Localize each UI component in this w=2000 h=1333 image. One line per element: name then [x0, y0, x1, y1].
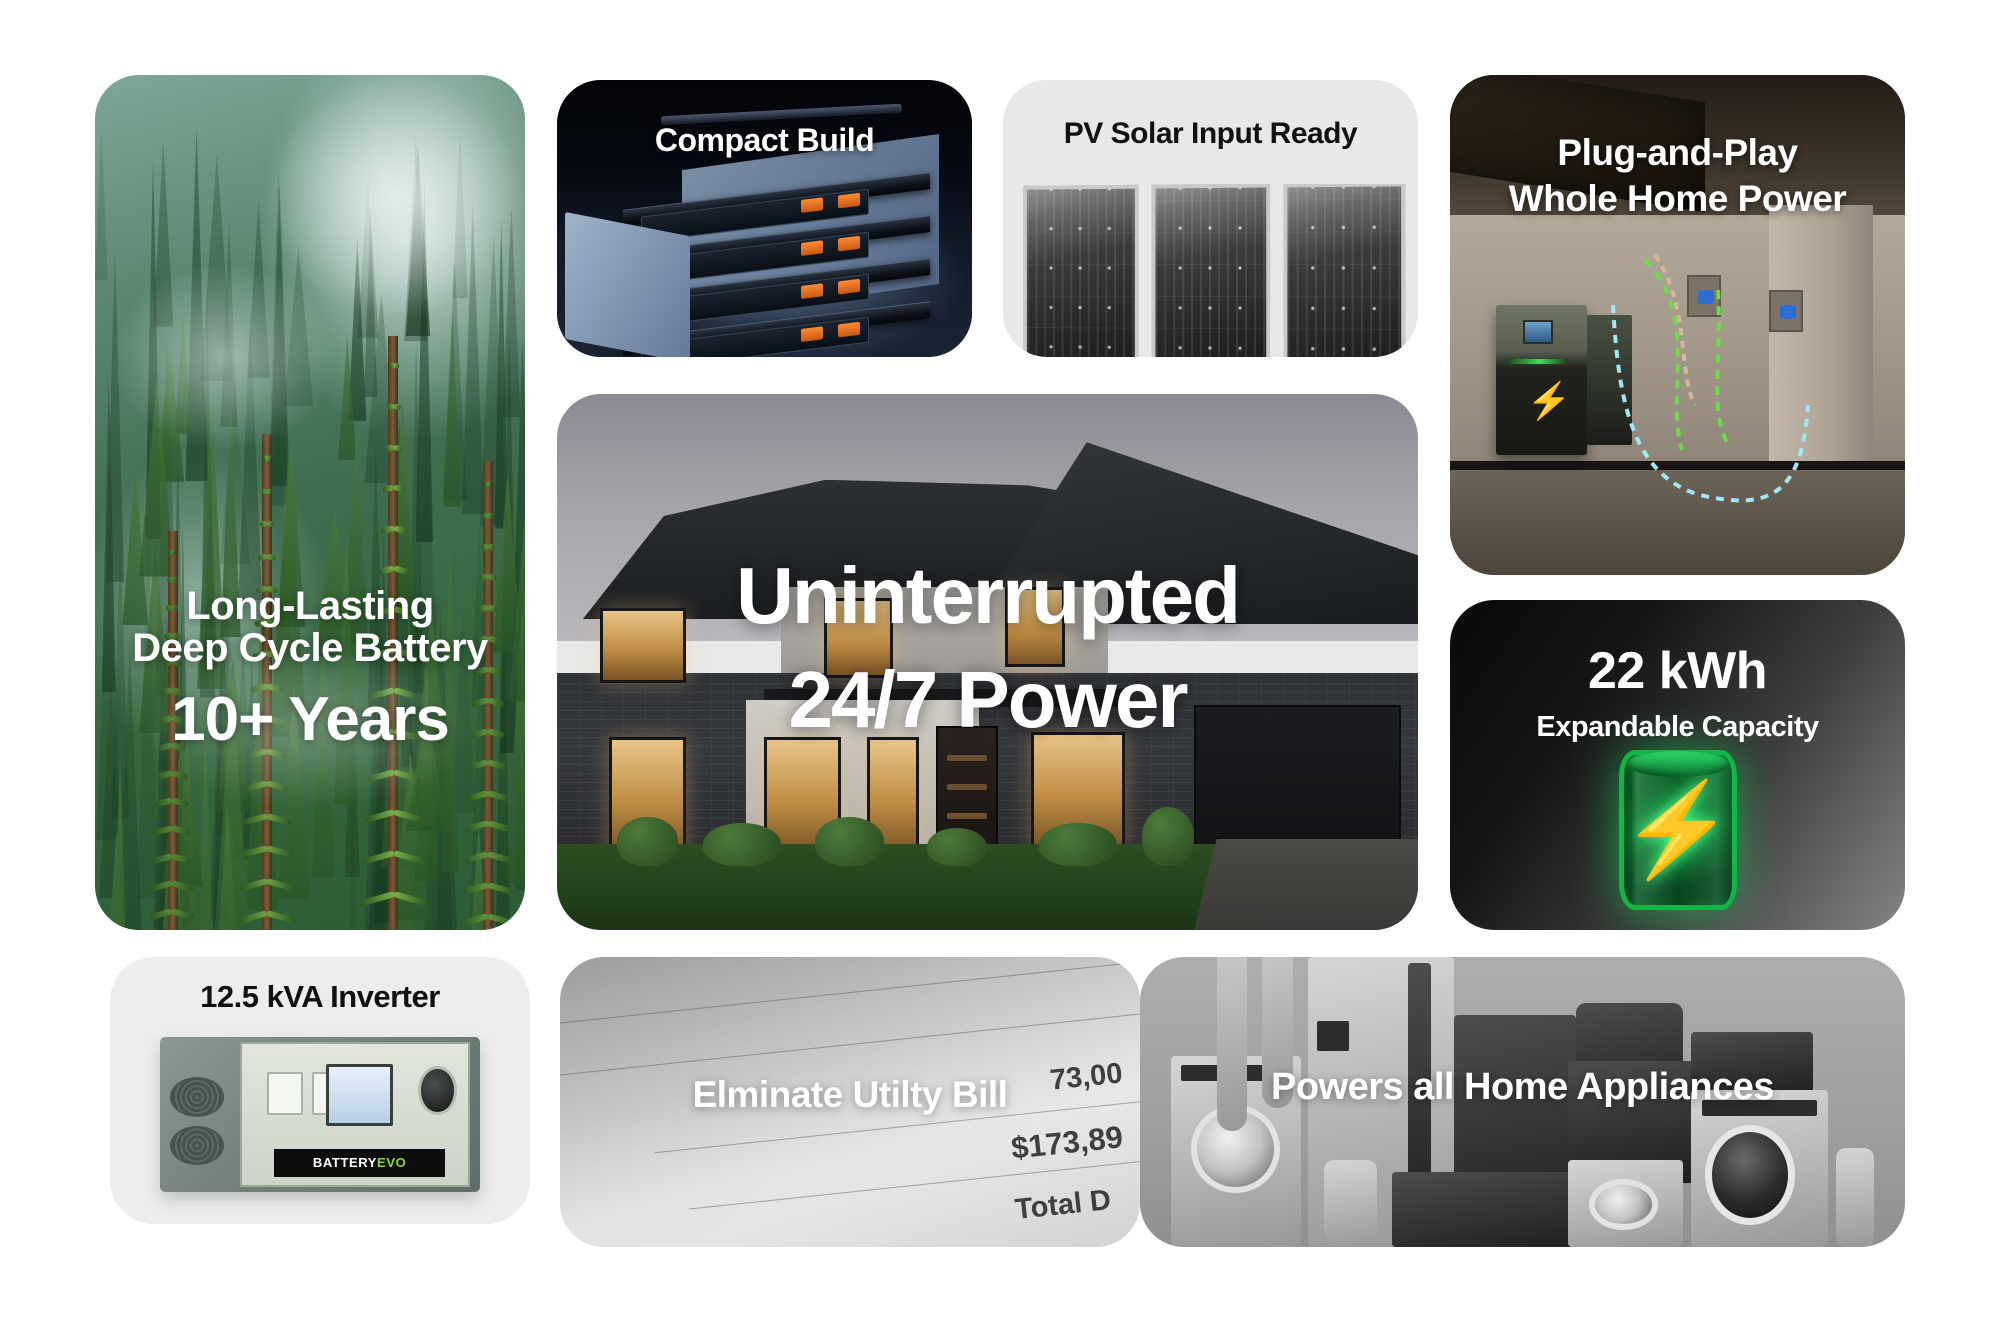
battery-cylinder-icon: ⚡ [1619, 750, 1737, 910]
card-uninterrupted-power[interactable]: Uninterrupted 24/7 Power [557, 394, 1418, 930]
compact-build-label: Compact Build [557, 124, 972, 158]
card-expandable-capacity[interactable]: ⚡ 22 kWh Expandable Capacity [1450, 600, 1905, 930]
house-label-line1: Uninterrupted [557, 554, 1418, 639]
plug-label-line1: Plug-and-Play [1450, 133, 1905, 172]
brand-main: BATTERY [313, 1155, 377, 1170]
pv-solar-label: PV Solar Input Ready [1003, 118, 1418, 150]
inverter-label: 12.5 kVA Inverter [110, 981, 530, 1014]
card-powers-appliances[interactable]: Powers all Home Appliances [1140, 957, 1905, 1247]
card-compact-build[interactable]: Compact Build [557, 80, 972, 357]
kwh-headline: 22 kWh [1450, 644, 1905, 699]
feature-collage: Long-Lasting Deep Cycle Battery 10+ Year… [0, 0, 2000, 1333]
house-label-line2: 24/7 Power [557, 658, 1418, 743]
appliances-label: Powers all Home Appliances [1140, 1067, 1905, 1107]
lightning-bolt-icon: ⚡ [1620, 784, 1735, 876]
card-plug-and-play[interactable]: ⚡ Plug-and-Play Whole Home Power [1450, 75, 1905, 575]
card-long-lasting-battery[interactable]: Long-Lasting Deep Cycle Battery 10+ Year… [95, 75, 525, 930]
forest-label-line1: Long-Lasting [95, 585, 525, 627]
card-inverter[interactable]: BATTERYEVO 12.5 kVA Inverter [110, 957, 530, 1224]
inverter-brand: BATTERYEVO [274, 1149, 446, 1177]
forest-headline: 10+ Years [95, 687, 525, 753]
forest-image [95, 75, 525, 930]
brand-accent: EVO [377, 1155, 406, 1170]
bill-label: Elminate Utilty Bill [560, 1075, 1140, 1114]
forest-label-line2: Deep Cycle Battery [95, 627, 525, 669]
card-eliminate-utility-bill[interactable]: 73,00 $173,89 Total D Elminate Utilty Bi… [560, 957, 1140, 1247]
card-pv-solar-input[interactable]: PV Solar Input Ready [1003, 80, 1418, 357]
plug-label-line2: Whole Home Power [1450, 179, 1905, 218]
kwh-subline: Expandable Capacity [1450, 712, 1905, 743]
